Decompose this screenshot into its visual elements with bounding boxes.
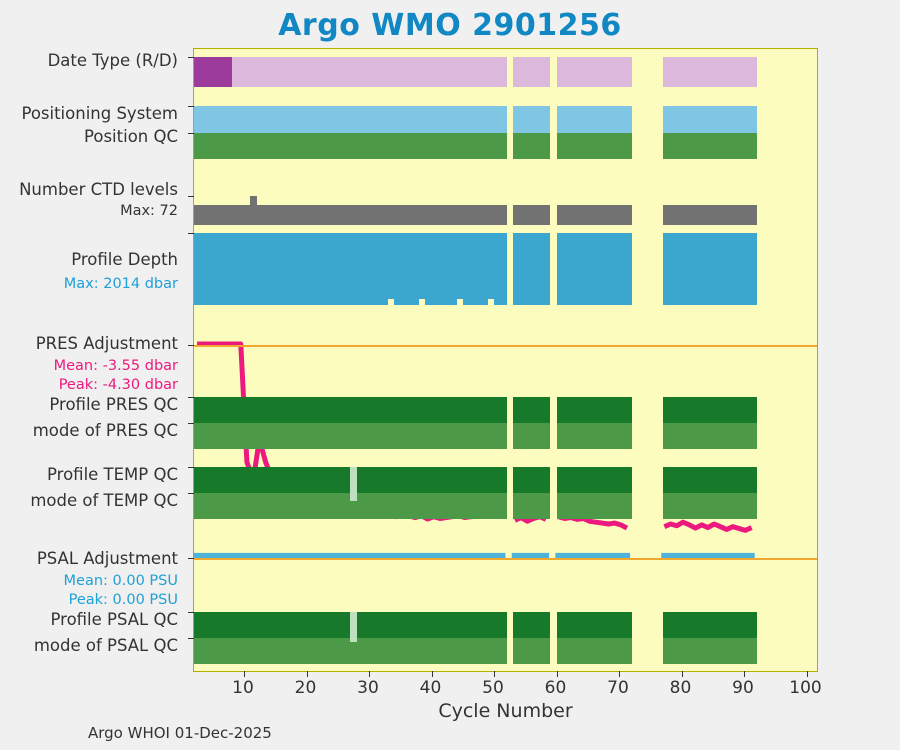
- row-tick-mark: [188, 558, 194, 559]
- profile-pres-qc-band: [557, 397, 632, 423]
- plot-area: [193, 48, 818, 672]
- x-tick-mark: [682, 671, 683, 677]
- label-positioning: Positioning System: [21, 105, 178, 122]
- positioning-system-band: [194, 106, 507, 133]
- profile-temp-qc-band: [557, 467, 632, 493]
- x-tick-label: 40: [420, 678, 442, 698]
- label-profile-depth-max: Max: 2014 dbar: [64, 277, 178, 292]
- row-tick-mark: [188, 196, 194, 197]
- profile-pres-qc-band: [513, 397, 551, 423]
- x-tick-label: 30: [357, 678, 379, 698]
- mode-pres-qc-band: [663, 423, 757, 449]
- profile-depth-shallow-notch: [488, 299, 494, 305]
- row-tick-mark: [188, 467, 194, 468]
- label-date-type: Date Type (R/D): [48, 52, 178, 69]
- x-tick-mark: [557, 671, 558, 677]
- position-qc-band: [194, 133, 507, 159]
- x-tick-mark: [744, 671, 745, 677]
- profile-psal-qc-band: [513, 612, 551, 638]
- date-type-segment-D: [513, 57, 551, 87]
- row-tick-mark: [188, 397, 194, 398]
- label-pres-adjust: PRES Adjustment: [36, 335, 178, 352]
- page-title: Argo WMO 2901256: [0, 8, 900, 43]
- ctd-levels-band: [513, 205, 551, 225]
- mode-pres-qc-band: [194, 423, 507, 449]
- label-pres-mean: Mean: -3.55 dbar: [54, 359, 178, 374]
- x-tick-mark: [244, 671, 245, 677]
- row-tick-mark: [188, 233, 194, 234]
- profile-temp-qc-band: [513, 467, 551, 493]
- x-tick-mark: [307, 671, 308, 677]
- label-psal-adjust: PSAL Adjustment: [37, 550, 178, 567]
- position-qc-band: [557, 133, 632, 159]
- label-profile-pres-qc: Profile PRES QC: [49, 396, 178, 413]
- label-mode-pres-qc: mode of PRES QC: [33, 422, 178, 439]
- label-ctd-levels-max: Max: 72: [120, 204, 178, 219]
- row-tick-mark: [188, 638, 194, 639]
- date-type-segment-D: [557, 57, 632, 87]
- label-mode-temp-qc: mode of TEMP QC: [30, 492, 178, 509]
- pres-zero-reference-line: [194, 345, 817, 347]
- position-qc-band: [663, 133, 757, 159]
- x-tick-label: 10: [232, 678, 254, 698]
- ctd-levels-band: [663, 205, 757, 225]
- positioning-system-band: [513, 106, 551, 133]
- profile-depth-band: [194, 233, 507, 305]
- x-tick-label: 100: [789, 678, 821, 698]
- x-tick-mark: [494, 671, 495, 677]
- x-tick-label: 90: [732, 678, 754, 698]
- mode-temp-qc-band: [513, 493, 551, 519]
- ctd-levels-band: [194, 205, 507, 225]
- row-tick-mark: [188, 612, 194, 613]
- x-axis-title: Cycle Number: [193, 700, 818, 722]
- label-psal-mean: Mean: 0.00 PSU: [64, 574, 178, 589]
- profile-depth-shallow-notch: [419, 299, 425, 305]
- ctd-levels-spike: [250, 196, 256, 205]
- row-tick-mark: [188, 345, 194, 346]
- ctd-levels-band: [557, 205, 632, 225]
- profile-pres-qc-band: [194, 397, 507, 423]
- profile-depth-band: [513, 233, 551, 305]
- x-tick-mark: [619, 671, 620, 677]
- x-tick-label: 70: [607, 678, 629, 698]
- mode-psal-qc-band: [557, 638, 632, 664]
- psal-zero-reference-line: [194, 558, 817, 560]
- x-tick-label: 60: [545, 678, 567, 698]
- label-ctd-levels: Number CTD levels: [19, 181, 178, 198]
- profile-psal-qc-band: [663, 612, 757, 638]
- profile-depth-band: [557, 233, 632, 305]
- profile-psal-qc-flag: [350, 612, 356, 642]
- row-tick-mark: [188, 106, 194, 107]
- x-tick-label: 20: [295, 678, 317, 698]
- label-profile-psal-qc: Profile PSAL QC: [50, 611, 178, 628]
- label-mode-psal-qc: mode of PSAL QC: [34, 637, 178, 654]
- x-tick-mark: [807, 671, 808, 677]
- date-type-segment-D: [232, 57, 507, 87]
- x-tick-label: 80: [670, 678, 692, 698]
- positioning-system-band: [557, 106, 632, 133]
- profile-depth-shallow-notch: [388, 299, 394, 305]
- profile-temp-qc-band: [663, 467, 757, 493]
- row-label-column: Date Type (R/D) Positioning System Posit…: [0, 48, 186, 672]
- label-profile-temp-qc: Profile TEMP QC: [47, 466, 178, 483]
- profile-depth-shallow-notch: [457, 299, 463, 305]
- x-tick-label: 50: [482, 678, 504, 698]
- x-tick-mark: [432, 671, 433, 677]
- label-position-qc: Position QC: [84, 128, 178, 145]
- date-type-segment-D: [663, 57, 757, 87]
- mode-temp-qc-band: [557, 493, 632, 519]
- profile-depth-band: [663, 233, 757, 305]
- mode-pres-qc-band: [513, 423, 551, 449]
- profile-psal-qc-band: [557, 612, 632, 638]
- profile-pres-qc-band: [663, 397, 757, 423]
- label-pres-peak: Peak: -4.30 dbar: [59, 378, 178, 393]
- label-psal-peak: Peak: 0.00 PSU: [69, 593, 178, 608]
- label-profile-depth: Profile Depth: [71, 251, 178, 268]
- row-tick-mark: [188, 493, 194, 494]
- mode-psal-qc-band: [513, 638, 551, 664]
- x-tick-mark: [369, 671, 370, 677]
- position-qc-band: [513, 133, 551, 159]
- row-tick-mark: [188, 57, 194, 58]
- mode-psal-qc-band: [663, 638, 757, 664]
- profile-temp-qc-flag: [350, 467, 356, 501]
- row-tick-mark: [188, 423, 194, 424]
- positioning-system-band: [663, 106, 757, 133]
- mode-temp-qc-band: [663, 493, 757, 519]
- footer-credit: Argo WHOI 01-Dec-2025: [88, 724, 272, 742]
- mode-pres-qc-band: [557, 423, 632, 449]
- row-tick-mark: [188, 133, 194, 134]
